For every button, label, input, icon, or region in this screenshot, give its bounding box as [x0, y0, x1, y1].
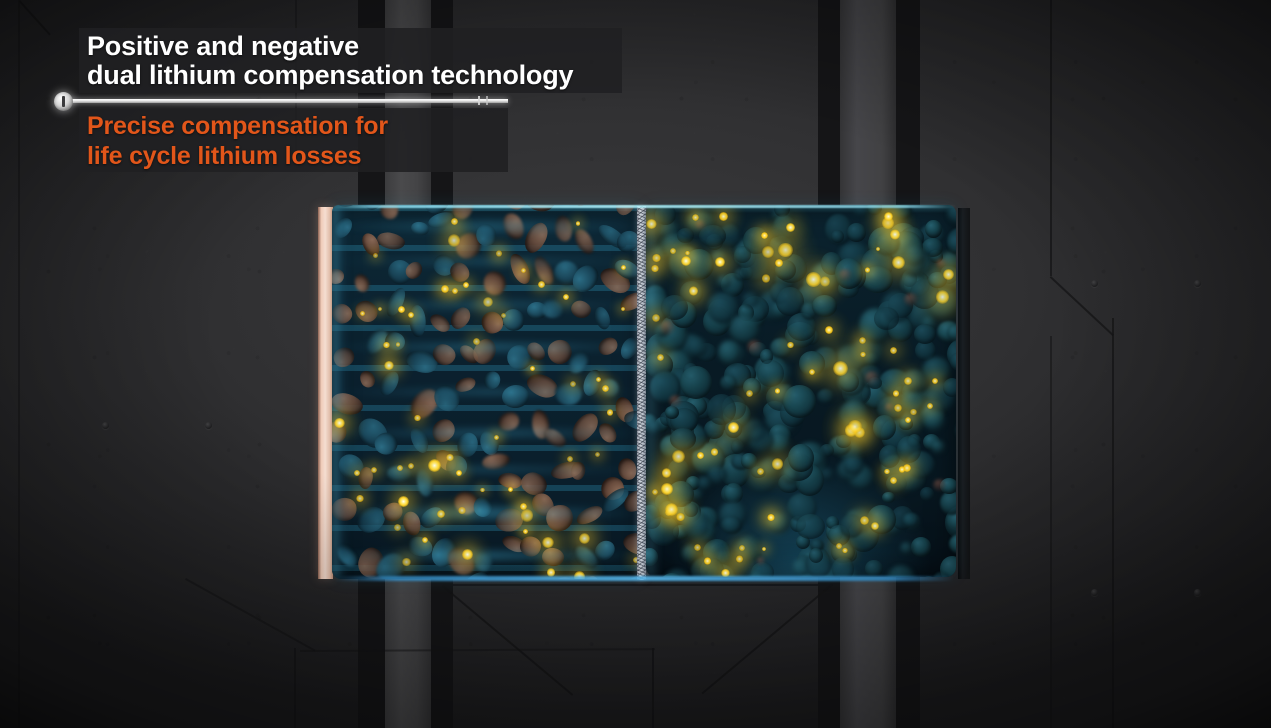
slider-tick-a — [478, 96, 480, 105]
scene-stage: Positive and negative dual lithium compe… — [0, 0, 1271, 728]
title-line-1: Positive and negative — [87, 31, 359, 62]
slider-knob-bar-icon — [62, 96, 65, 107]
title-line-2: dual lithium compensation technology — [87, 60, 573, 91]
slider-rule-line[interactable] — [70, 99, 508, 103]
text-overlay: Positive and negative dual lithium compe… — [0, 0, 1271, 728]
slider-tick-b — [486, 96, 488, 105]
subtitle-line-1: Precise compensation for — [87, 112, 388, 141]
subtitle-line-2: life cycle lithium losses — [87, 142, 361, 171]
